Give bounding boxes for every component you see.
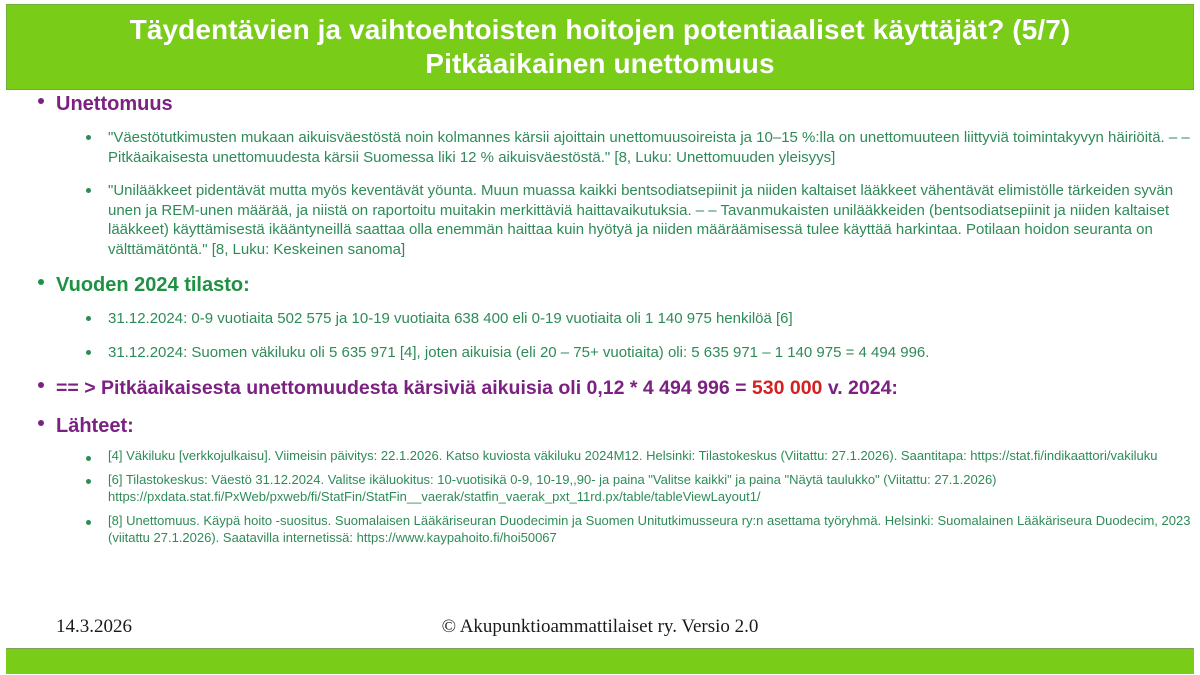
spacer bbox=[0, 117, 1200, 128]
section-heading-sources: Lähteet: bbox=[0, 414, 1200, 439]
section-heading-insomnia-label: Unettomuus bbox=[56, 93, 173, 115]
bullet-icon bbox=[86, 520, 91, 525]
statistics-line-2: 31.12.2024: Suomen väkiluku oli 5 635 97… bbox=[108, 343, 1200, 363]
bullet-icon bbox=[38, 98, 44, 104]
bullet-icon bbox=[86, 456, 91, 461]
list-item: "Unilääkkeet pidentävät mutta myös keven… bbox=[70, 181, 1200, 259]
source-reference-6: [6] Tilastokeskus: Väestö 31.12.2024. Va… bbox=[108, 472, 1200, 506]
source-reference-8: [8] Unettomuus. Käypä hoito -suositus. S… bbox=[108, 513, 1200, 547]
list-item: [6] Tilastokeskus: Väestö 31.12.2024. Va… bbox=[70, 472, 1200, 506]
spacer bbox=[0, 329, 1200, 343]
insomnia-quote-1: "Väestötutkimusten mukaan aikuisväestöst… bbox=[108, 128, 1200, 167]
spacer bbox=[0, 400, 1200, 414]
statistics-line-1: 31.12.2024: 0-9 vuotiaita 502 575 ja 10-… bbox=[108, 309, 1200, 329]
spacer bbox=[0, 298, 1200, 309]
list-item: [8] Unettomuus. Käypä hoito -suositus. S… bbox=[70, 513, 1200, 547]
slide: Täydentävien ja vaihtoehtoisten hoitojen… bbox=[0, 0, 1200, 675]
slide-title-line-1: Täydentävien ja vaihtoehtoisten hoitojen… bbox=[130, 13, 1071, 47]
conclusion-highlight-value: 530 000 bbox=[752, 377, 823, 399]
slide-bottom-band bbox=[6, 648, 1194, 674]
bullet-icon bbox=[86, 188, 91, 193]
list-item: 31.12.2024: 0-9 vuotiaita 502 575 ja 10-… bbox=[70, 309, 1200, 329]
spacer bbox=[0, 167, 1200, 181]
spacer bbox=[0, 465, 1200, 472]
slide-title: Täydentävien ja vaihtoehtoisten hoitojen… bbox=[110, 13, 1091, 81]
conclusion-statement: == > Pitkäaikaisesta unettomuudesta kärs… bbox=[0, 376, 1200, 400]
bullet-icon bbox=[38, 420, 44, 426]
conclusion-prefix: == > Pitkäaikaisesta unettomuudesta kärs… bbox=[56, 377, 752, 399]
slide-title-line-2: Pitkäaikainen unettomuus bbox=[130, 47, 1071, 81]
bullet-icon bbox=[86, 479, 91, 484]
slide-body: Unettomuus "Väestötutkimusten mukaan aik… bbox=[0, 92, 1200, 612]
bullet-icon bbox=[38, 382, 44, 388]
slide-footer: 14.3.2026 © Akupunktioammattilaiset ry. … bbox=[0, 614, 1200, 648]
spacer bbox=[0, 439, 1200, 448]
section-heading-sources-label: Lähteet: bbox=[56, 415, 134, 437]
section-heading-statistics: Vuoden 2024 tilasto: bbox=[0, 273, 1200, 298]
bullet-icon bbox=[86, 135, 91, 140]
bullet-icon bbox=[86, 350, 91, 355]
spacer bbox=[0, 259, 1200, 273]
insomnia-quote-2: "Unilääkkeet pidentävät mutta myös keven… bbox=[108, 181, 1200, 259]
source-reference-4: [4] Väkiluku [verkkojulkaisu]. Viimeisin… bbox=[108, 448, 1200, 465]
list-item: 31.12.2024: Suomen väkiluku oli 5 635 97… bbox=[70, 343, 1200, 363]
section-heading-statistics-label: Vuoden 2024 tilasto: bbox=[56, 274, 250, 296]
bullet-icon bbox=[86, 316, 91, 321]
footer-copyright: © Akupunktioammattilaiset ry. Versio 2.0 bbox=[0, 616, 1200, 638]
list-item: [4] Väkiluku [verkkojulkaisu]. Viimeisin… bbox=[70, 448, 1200, 465]
conclusion-suffix: v. 2024: bbox=[822, 377, 898, 399]
spacer bbox=[0, 506, 1200, 513]
bullet-icon bbox=[38, 279, 44, 285]
list-item: "Väestötutkimusten mukaan aikuisväestöst… bbox=[70, 128, 1200, 167]
slide-title-band: Täydentävien ja vaihtoehtoisten hoitojen… bbox=[6, 4, 1194, 90]
section-heading-insomnia: Unettomuus bbox=[0, 92, 1200, 117]
spacer bbox=[0, 362, 1200, 376]
